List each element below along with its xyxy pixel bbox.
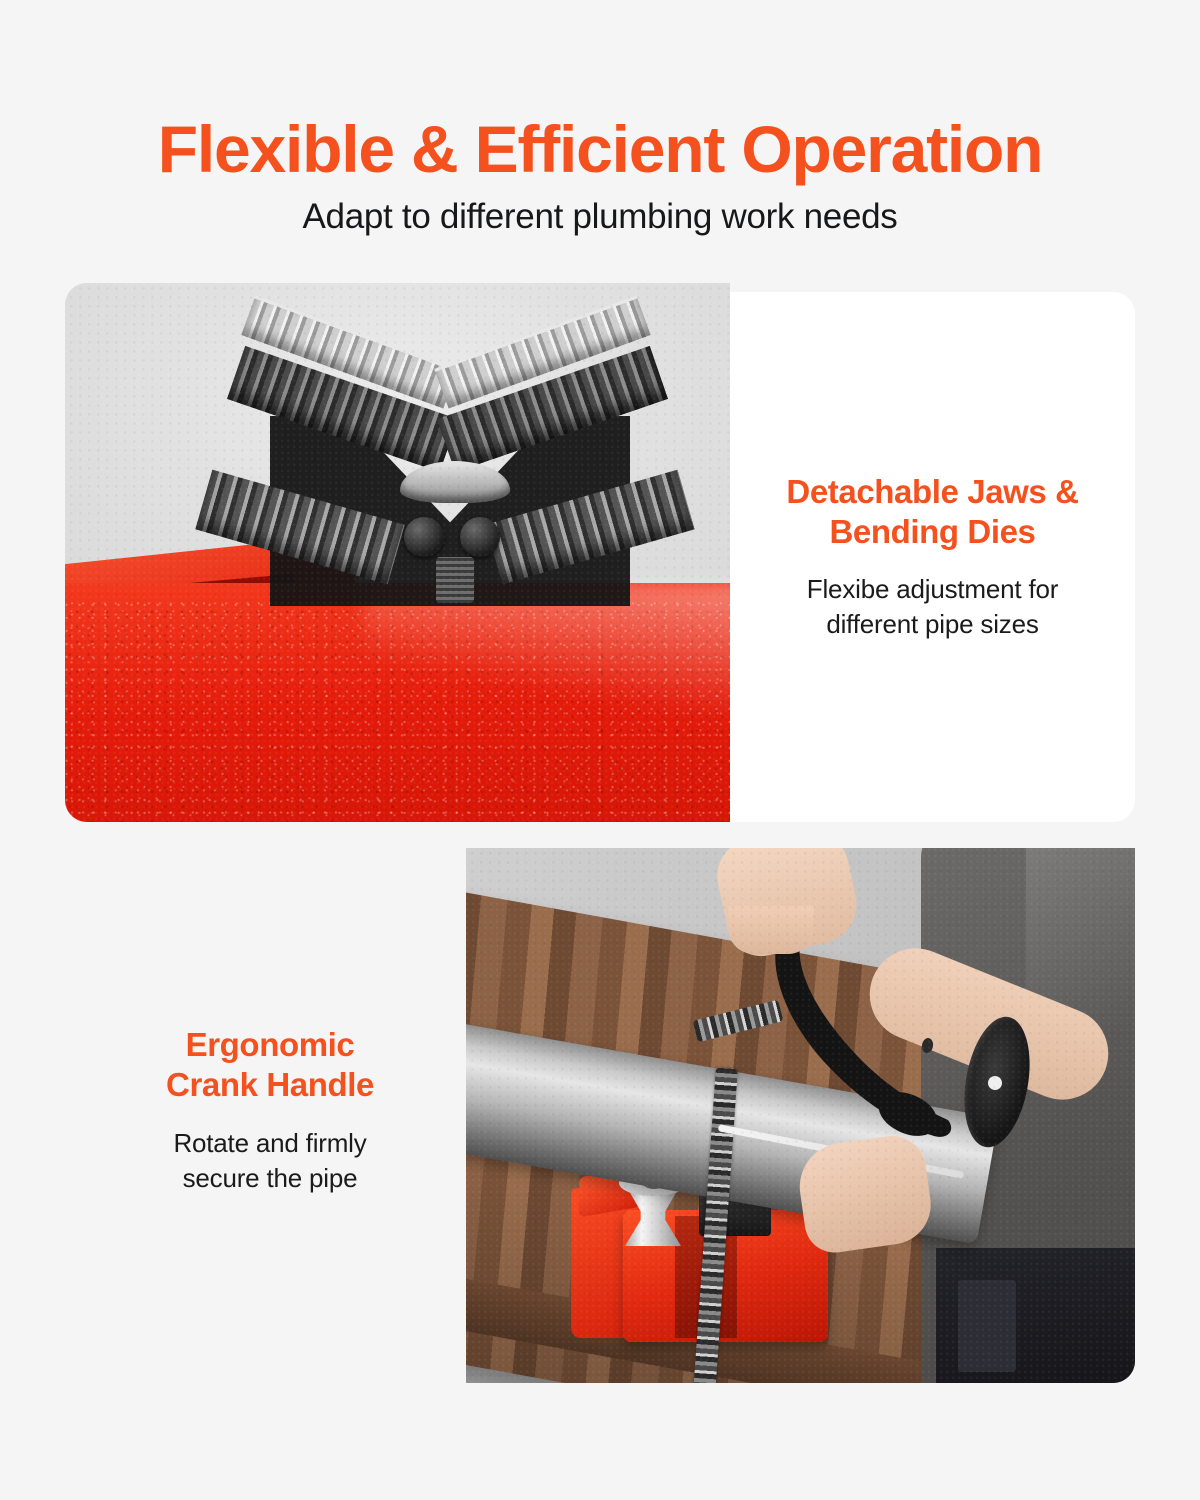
worker-fingers — [728, 906, 814, 954]
product-feature-page: Flexible & Efficient Operation Adapt to … — [0, 0, 1200, 1500]
feature-2-title: Ergonomic Crank Handle — [80, 1025, 460, 1106]
feature-1-description: Flexibe adjustment for different pipe si… — [807, 572, 1058, 642]
feature-1-title-line-1: Detachable Jaws & — [786, 472, 1078, 512]
crank-handle — [766, 930, 986, 1160]
feature-2-description-line-2: secure the pipe — [80, 1161, 460, 1196]
page-subtitle: Adapt to different plumbing work needs — [0, 197, 1200, 237]
feature-2-description: Rotate and firmly secure the pipe — [80, 1126, 460, 1196]
bending-die-center — [400, 461, 510, 581]
feature-1-description-line-2: different pipe sizes — [807, 607, 1058, 642]
feature-1-text-card: Detachable Jaws & Bending Dies Flexibe a… — [730, 292, 1135, 822]
feature-2-description-line-1: Rotate and firmly — [80, 1126, 460, 1161]
jaw-bolt — [460, 517, 500, 557]
feature-2-title-line-1: Ergonomic — [80, 1025, 460, 1065]
jaw-assembly — [250, 321, 650, 611]
feature-2-text-block: Ergonomic Crank Handle Rotate and firmly… — [80, 1025, 460, 1196]
page-title: Flexible & Efficient Operation — [0, 116, 1200, 183]
bending-die-wave — [400, 461, 510, 503]
feature-1-title: Detachable Jaws & Bending Dies — [786, 472, 1078, 553]
jaw-bolt — [404, 517, 444, 557]
feature-1-photo — [65, 283, 730, 822]
feature-1-title-line-2: Bending Dies — [786, 512, 1078, 552]
crank-handle-shape — [766, 930, 986, 1160]
feature-1-description-line-1: Flexibe adjustment for — [807, 572, 1058, 607]
feature-2-title-line-2: Crank Handle — [80, 1065, 460, 1105]
worker-trouser-pocket — [958, 1280, 1016, 1372]
feature-2-photo — [466, 848, 1135, 1383]
jaw-screw-thread — [436, 557, 474, 603]
page-header: Flexible & Efficient Operation Adapt to … — [0, 0, 1200, 237]
